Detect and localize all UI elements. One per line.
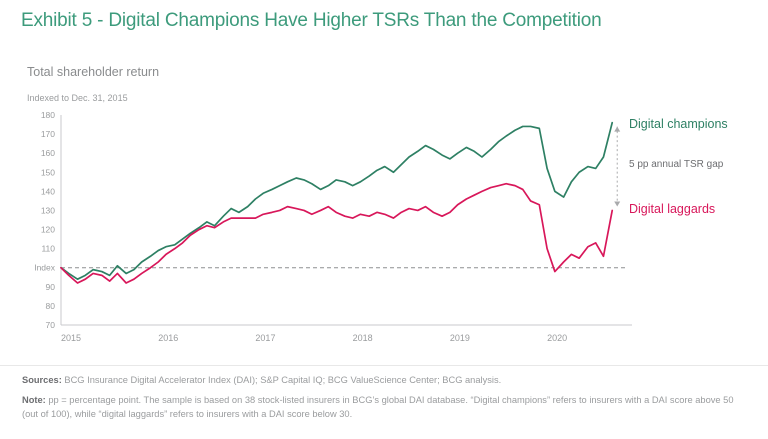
x-tick-label: 2015: [61, 333, 81, 343]
x-tick-label: 2017: [255, 333, 275, 343]
y-tick-label: 160: [41, 148, 55, 158]
note-label: Note:: [22, 395, 46, 405]
y-tick-label: 170: [41, 129, 55, 139]
y-tick-label: Index: [34, 263, 56, 273]
y-tick-label: 120: [41, 225, 55, 235]
y-tick-label: 140: [41, 186, 55, 196]
y-tick-label: 150: [41, 167, 55, 177]
x-tick-label: 2016: [158, 333, 178, 343]
sources-text: BCG Insurance Digital Accelerator Index …: [62, 375, 501, 385]
gap-arrow-head-top: [614, 127, 620, 132]
sources-line: Sources: BCG Insurance Digital Accelerat…: [22, 374, 748, 387]
footer: Sources: BCG Insurance Digital Accelerat…: [22, 374, 748, 422]
y-tick-label: 110: [41, 244, 55, 254]
gap-arrow-head-bottom: [614, 201, 620, 206]
gap-annotation-label: 5 pp annual TSR gap: [629, 159, 723, 170]
chart-plot-area: 708090Index11012013014015016017018020152…: [0, 0, 768, 360]
x-tick-label: 2019: [450, 333, 470, 343]
sources-label: Sources:: [22, 375, 62, 385]
series-label-champions: Digital champions: [629, 117, 728, 131]
y-tick-label: 70: [46, 320, 56, 330]
series-label-laggards: Digital laggards: [629, 202, 715, 216]
y-tick-label: 130: [41, 205, 55, 215]
x-tick-label: 2018: [353, 333, 373, 343]
chart-svg: 708090Index11012013014015016017018020152…: [0, 0, 768, 360]
x-tick-label: 2020: [547, 333, 567, 343]
y-tick-label: 90: [46, 282, 56, 292]
y-tick-label: 180: [41, 110, 55, 120]
note-text: pp = percentage point. The sample is bas…: [22, 395, 734, 419]
y-tick-label: 80: [46, 301, 56, 311]
note-line: Note: pp = percentage point. The sample …: [22, 394, 748, 422]
footer-divider: [0, 365, 768, 366]
